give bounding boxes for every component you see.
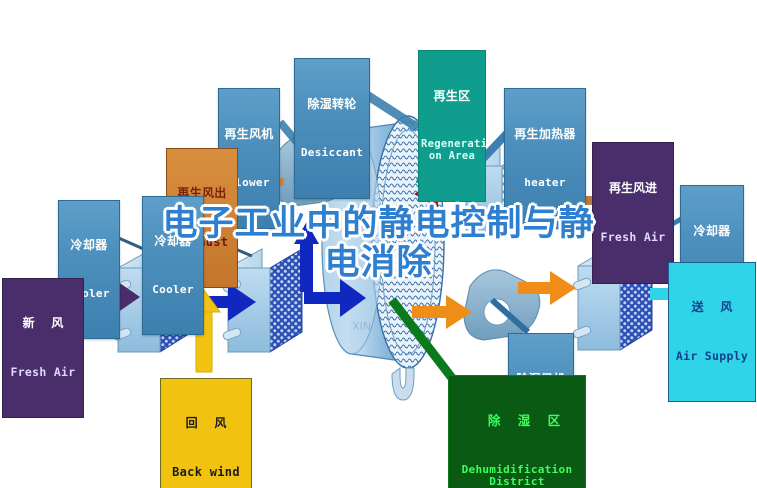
label-en: Regenerati on Area [421, 139, 483, 163]
label-en: Back wind [163, 466, 249, 479]
label-dehumidification-district[interactable]: 除 湿 区 Dehumidification District [448, 375, 586, 488]
label-en: Fresh Air [5, 366, 81, 379]
label-en: heater [507, 177, 583, 189]
label-cn: 送 风 [671, 301, 753, 314]
label-cn: 新 风 [5, 317, 81, 330]
label-en: Dehumidification District [451, 464, 583, 488]
label-cn: 除 湿 区 [451, 414, 583, 428]
label-cn: 再生风进 [595, 182, 671, 195]
overlay-title-line2: 电消除 [0, 244, 757, 283]
svg-text:XIN: XIN [352, 320, 371, 333]
cooler2-out-arrow [304, 279, 366, 317]
diagram-canvas: XIN [0, 0, 757, 488]
label-back-wind[interactable]: 回 风 Back wind [160, 378, 252, 488]
label-cn: 回 风 [163, 417, 249, 430]
label-desiccant-rotor[interactable]: 除湿转轮 Desiccant [294, 58, 370, 199]
label-en: Air Supply [671, 350, 753, 363]
overlay-title-line1: 电子工业中的静电控制与静 [0, 205, 757, 244]
label-cn: 再生区 [421, 90, 483, 103]
label-fresh-air-in[interactable]: 新 风 Fresh Air [2, 278, 84, 418]
label-cn: 除湿转轮 [297, 98, 367, 111]
label-regeneration-area[interactable]: 再生区 Regenerati on Area [418, 50, 486, 202]
label-en: Desiccant [297, 147, 367, 159]
dry-air-arrow [412, 295, 472, 329]
overlay-title: 电子工业中的静电控制与静 电消除 [0, 205, 757, 283]
label-cn: 再生加热器 [507, 128, 583, 141]
label-en: Cooler [145, 284, 201, 296]
label-cn: 再生风机 [221, 128, 277, 141]
